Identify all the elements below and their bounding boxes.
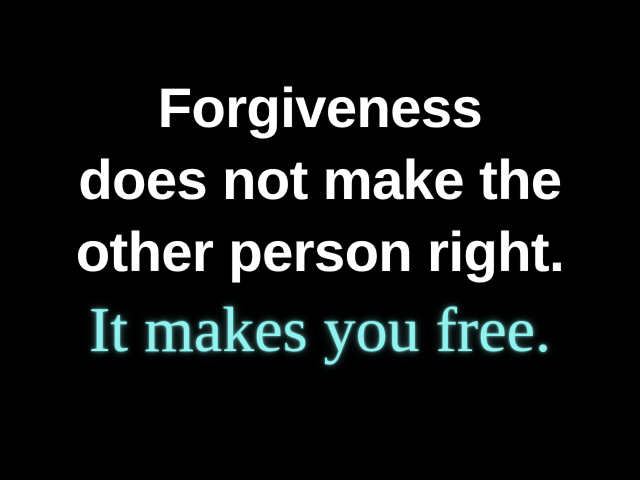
quote-text-block: Forgiveness does not make the other pers… [0,0,640,368]
quote-line-2: does not make the [0,144,640,216]
quote-line-1: Forgiveness [0,72,640,144]
quote-line-4-accent: It makes you free. [0,292,640,368]
quote-image-canvas: Forgiveness does not make the other pers… [0,0,640,480]
quote-line-3: other person right. [0,216,640,288]
